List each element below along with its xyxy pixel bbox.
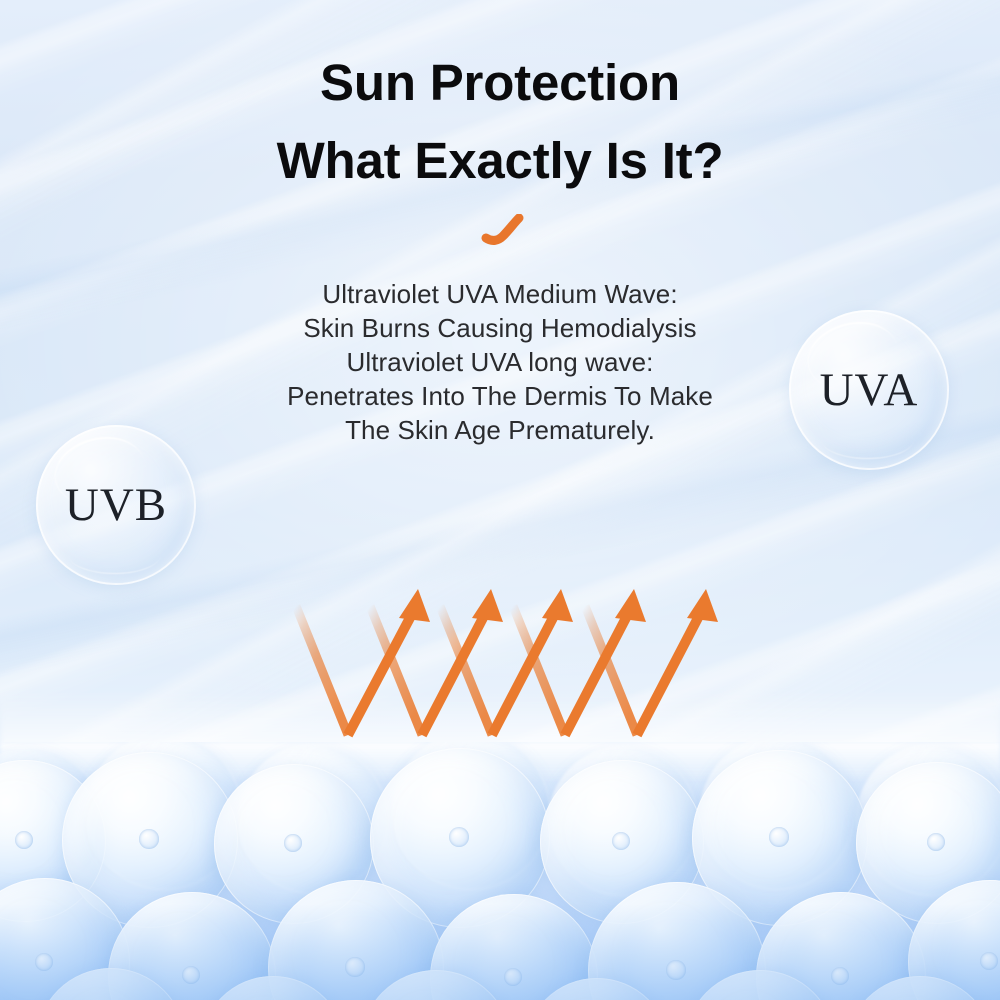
- uvb-bubble-lower-highlight-icon: [68, 534, 161, 573]
- poster-root: Sun Protection What Exactly Is It? Ultra…: [0, 0, 1000, 1000]
- uvb-bubble-label: UVB: [65, 478, 167, 532]
- water-gel-sphere-field: [0, 742, 1000, 1000]
- uva-bubble-label: UVA: [820, 363, 919, 417]
- page-title: Sun Protection What Exactly Is It?: [0, 44, 1000, 199]
- uva-bubble: UVA: [789, 310, 949, 470]
- orange-check-swoosh-icon: [481, 214, 529, 248]
- uva-bubble-lower-highlight-icon: [821, 419, 914, 458]
- headline-line-2: What Exactly Is It?: [0, 122, 1000, 200]
- description-line-1: Ultraviolet UVA Medium Wave:: [0, 278, 1000, 312]
- uvb-bubble: UVB: [36, 425, 196, 585]
- headline-line-1: Sun Protection: [0, 44, 1000, 122]
